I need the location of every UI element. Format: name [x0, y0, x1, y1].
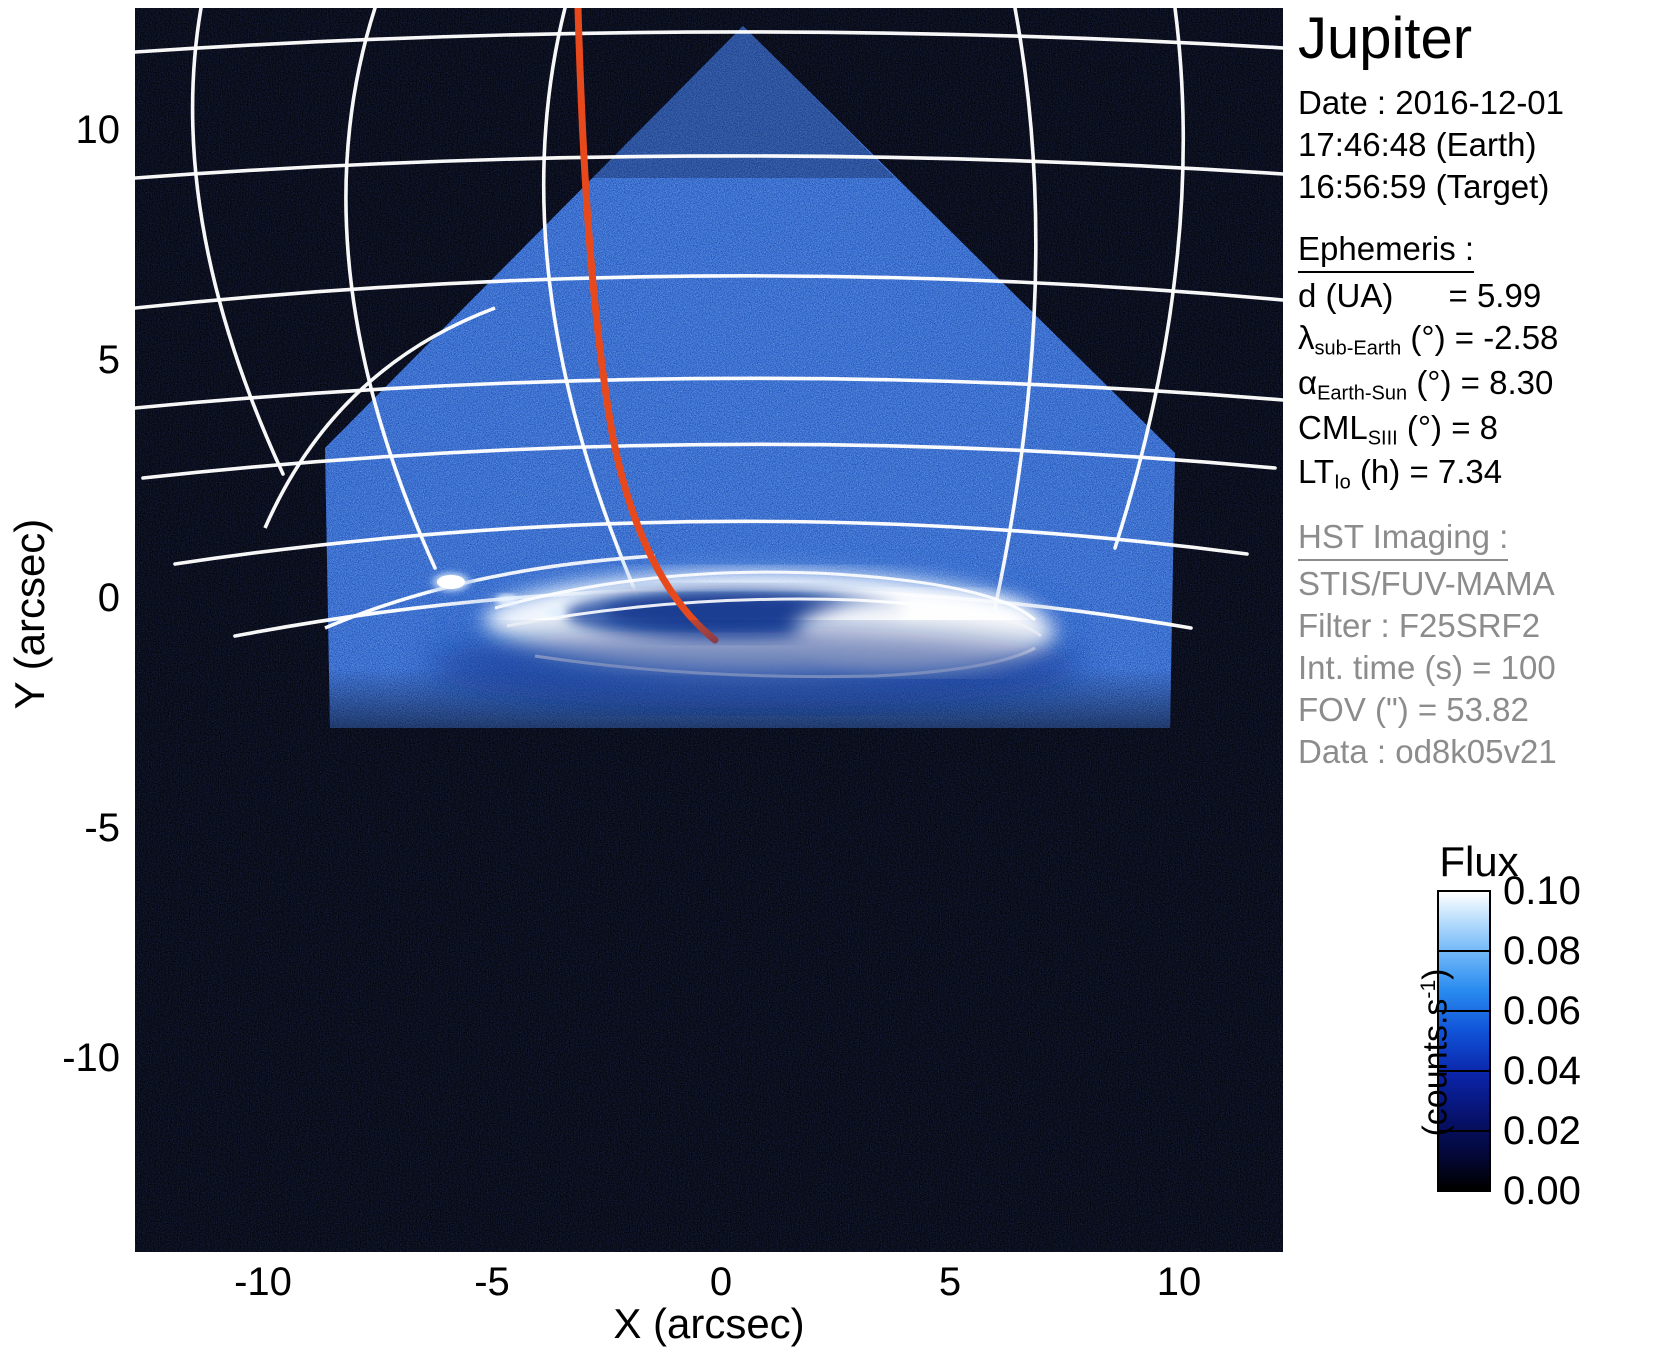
ephemeris-sub-cml: SIII	[1368, 427, 1398, 449]
ephemeris-unit-cml: (°)	[1407, 409, 1442, 446]
ephemeris-label-cml: CML	[1298, 409, 1368, 446]
ytick-neg10: -10	[10, 1038, 120, 1078]
colorbar-label-008: 0.08	[1503, 931, 1581, 971]
colorbar-label-010: 0.10	[1503, 871, 1581, 911]
colorbar-unit-exponent: -1	[1417, 980, 1440, 999]
hst-imaging-heading: HST Imaging :	[1298, 516, 1508, 561]
observation-time-earth: 17:46:48 (Earth)	[1298, 124, 1671, 166]
ephemeris-row-cml: CMLSIII (°) = 8	[1298, 407, 1671, 452]
ephemeris-row-sub-earth-lat: λsub-Earth (°) = -2.58	[1298, 317, 1671, 362]
ephemeris-value-lambda: = -2.58	[1455, 319, 1559, 356]
image-plot-area[interactable]	[135, 8, 1283, 1252]
hst-integration-time: Int. time (s) = 100	[1298, 647, 1671, 689]
ephemeris-value-distance: = 5.99	[1449, 277, 1542, 314]
hst-filter: Filter : F25SRF2	[1298, 605, 1671, 647]
metadata-panel: Jupiter Date : 2016-12-01 17:46:48 (Eart…	[1298, 10, 1671, 773]
colorbar-unit-label: (counts.s-1)	[1417, 903, 1456, 1203]
hst-field-of-view: FOV (") = 53.82	[1298, 689, 1671, 731]
ephemeris-unit-alpha: (°)	[1416, 364, 1451, 401]
ephemeris-value-lt: = 7.34	[1409, 453, 1502, 490]
colorbar-label-000: 0.00	[1503, 1171, 1581, 1211]
ephemeris-heading: Ephemeris :	[1298, 228, 1474, 273]
ephemeris-value-cml: = 8	[1451, 409, 1498, 446]
ephemeris-row-distance: d (UA) = 5.99	[1298, 275, 1671, 317]
xtick-10: 10	[1099, 1262, 1259, 1302]
ephemeris-unit-lt: (h)	[1360, 453, 1400, 490]
observation-time-target: 16:56:59 (Target)	[1298, 166, 1671, 208]
page-title: Jupiter	[1298, 10, 1671, 68]
colorbar-unit-prefix: (counts.s	[1417, 999, 1455, 1137]
ephemeris-row-phase-angle: αEarth-Sun (°) = 8.30	[1298, 362, 1671, 407]
spacer-2	[1298, 496, 1671, 516]
spacer-1	[1298, 208, 1671, 228]
colorbar-label-004: 0.04	[1503, 1051, 1581, 1091]
hst-instrument: STIS/FUV-MAMA	[1298, 563, 1671, 605]
jupiter-fuv-image	[135, 8, 1283, 1252]
colorbar-legend: Flux 0.10 0.08 0.06 0.04 0.02 0.00 (coun…	[1298, 838, 1671, 1238]
ephemeris-label-lambda: λ	[1298, 319, 1315, 356]
ephemeris-sub-alpha: Earth-Sun	[1317, 382, 1407, 404]
y-axis-label: Y (arcsec)	[6, 384, 54, 844]
colorbar-label-002: 0.02	[1503, 1111, 1581, 1151]
hst-dataset-id: Data : od8k05v21	[1298, 731, 1671, 773]
xtick-neg10: -10	[183, 1262, 343, 1302]
ytick-10: 10	[10, 110, 120, 150]
ephemeris-unit-lambda: (°)	[1410, 319, 1445, 356]
colorbar-unit-suffix: )	[1417, 968, 1455, 979]
observation-date: Date : 2016-12-01	[1298, 82, 1671, 124]
ephemeris-label-distance: d (UA)	[1298, 277, 1393, 314]
ephemeris-label-lt: LT	[1298, 453, 1334, 490]
ytick-5: 5	[10, 340, 120, 380]
ephemeris-value-alpha: = 8.30	[1461, 364, 1554, 401]
colorbar-label-006: 0.06	[1503, 991, 1581, 1031]
xtick-neg5: -5	[412, 1262, 572, 1302]
ephemeris-sub-lt: Io	[1334, 472, 1351, 494]
ephemeris-sub-lambda: sub-Earth	[1315, 337, 1402, 359]
ephemeris-row-io-local-time: LTIo (h) = 7.34	[1298, 451, 1671, 496]
x-axis-label: X (arcsec)	[135, 1300, 1283, 1348]
figure-root: 10 5 0 -5 -10 Y (arcsec) -10 -5 0 5 10 X…	[0, 0, 1671, 1367]
xtick-0: 0	[641, 1262, 801, 1302]
ephemeris-label-alpha: α	[1298, 364, 1317, 401]
xtick-5: 5	[870, 1262, 1030, 1302]
